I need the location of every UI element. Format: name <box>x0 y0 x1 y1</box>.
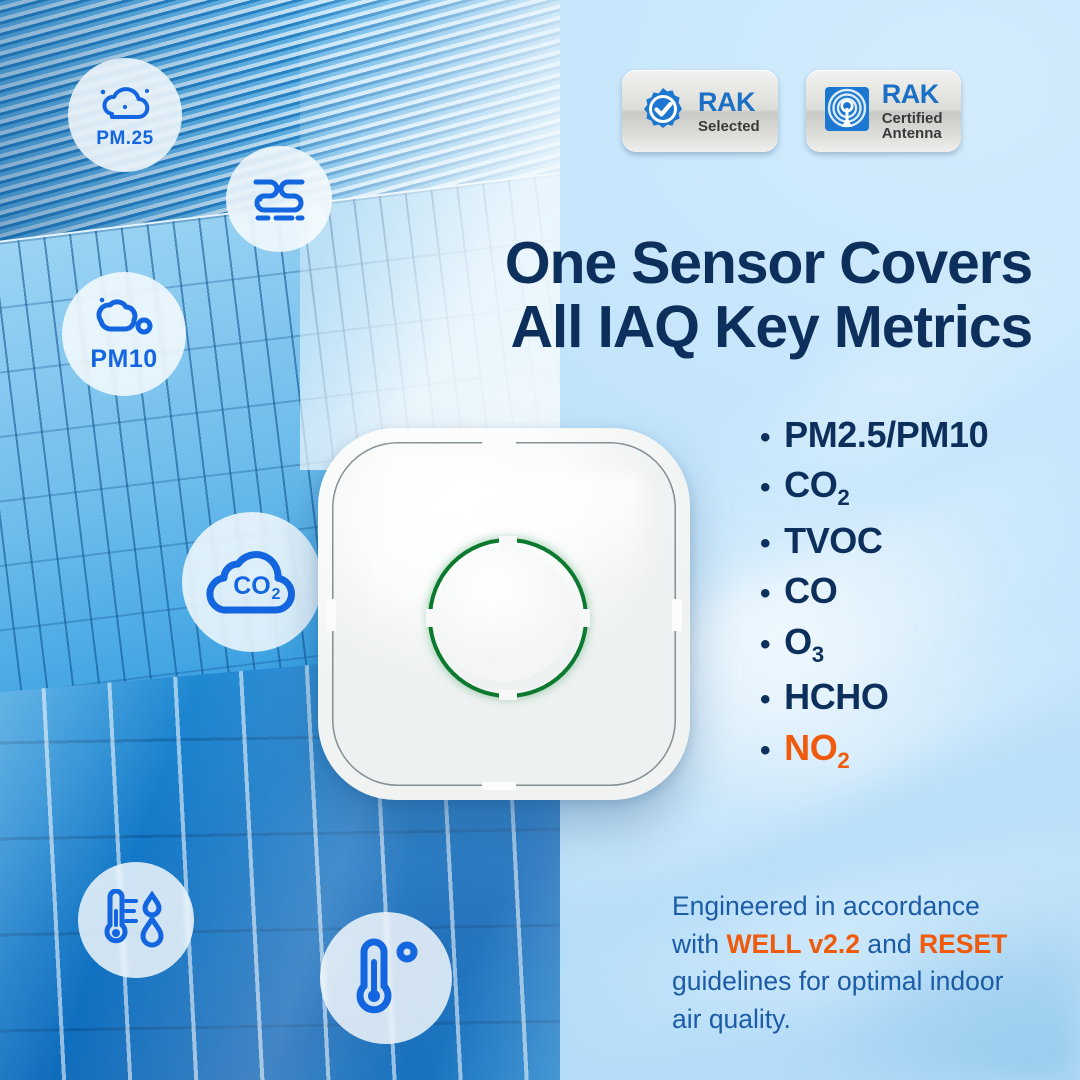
list-item: • HCHO <box>760 676 1060 718</box>
rak-certified-antenna-badge: RAK Certified Antenna <box>806 70 961 152</box>
metric-label: CO <box>784 570 837 612</box>
rak-brand-label: RAK <box>882 81 943 108</box>
sensor-ring-center <box>436 546 572 682</box>
cloud-particles-icon <box>94 83 156 125</box>
list-item: • NO2 <box>760 727 1060 775</box>
sensor-seam-gap <box>482 438 516 446</box>
rak-brand-label: RAK <box>698 89 760 116</box>
list-item: • CO <box>760 570 1060 612</box>
airflow-swirl-icon <box>246 168 312 230</box>
svg-text:CO: CO <box>233 572 271 600</box>
bullet-dot: • <box>760 630 770 660</box>
rak-selected-label: Selected <box>698 119 760 134</box>
humidity-badge <box>78 862 194 978</box>
thermometer-humidity-icon <box>100 889 172 951</box>
bullet-dot: • <box>760 685 770 715</box>
bullet-dot: • <box>760 529 770 559</box>
page-title: One Sensor Covers All IAQ Key Metrics <box>432 232 1032 359</box>
metric-label: PM2.5/PM10 <box>784 414 988 456</box>
caption-part-3: guidelines for optimal indoor air qualit… <box>672 966 1003 1034</box>
led-ring-notch <box>426 609 436 627</box>
metric-label: NO2 <box>784 727 849 775</box>
iaq-sensor-device <box>318 428 690 800</box>
co2-badge: CO 2 <box>182 512 322 652</box>
list-item: • PM2.5/PM10 <box>760 414 1060 456</box>
pm10-badge: PM10 <box>62 272 186 396</box>
headline-line-2: All IAQ Key Metrics <box>432 296 1032 360</box>
caption-highlight-well: WELL v2.2 <box>727 929 861 959</box>
metric-label: HCHO <box>784 676 888 718</box>
pm10-badge-caption: PM10 <box>90 347 157 372</box>
sensor-seam-gap <box>326 599 336 631</box>
rak-certified-antenna-icon <box>824 86 870 137</box>
metric-label: O3 <box>784 621 824 669</box>
caption-part-2: and <box>860 929 919 959</box>
pm25-badge: PM.25 <box>68 58 182 172</box>
bullet-dot: • <box>760 579 770 609</box>
compliance-caption: Engineered in accordance with WELL v2.2 … <box>672 888 1032 1039</box>
led-ring-notch <box>580 609 590 627</box>
certification-badges: RAK Selected RAK Certified Antenna <box>622 70 961 152</box>
led-ring-notch <box>499 690 517 700</box>
metric-label: TVOC <box>784 520 882 562</box>
airflow-badge <box>226 146 332 252</box>
bullet-dot: • <box>760 473 770 503</box>
sensor-seam-gap <box>482 782 516 790</box>
metrics-list: • PM2.5/PM10 • CO2 • TVOC • CO • O3 • HC… <box>760 414 1060 782</box>
rak-selected-badge: RAK Selected <box>622 70 778 152</box>
metric-label: CO2 <box>784 464 849 512</box>
svg-text:2: 2 <box>272 586 281 603</box>
cloud-co2-icon: CO 2 <box>198 540 306 624</box>
rak-selected-check-icon <box>640 86 686 137</box>
poster-canvas: PM.25 PM10 CO <box>0 0 1080 1080</box>
list-item: • TVOC <box>760 520 1060 562</box>
bullet-dot: • <box>760 736 770 766</box>
list-item: • O3 <box>760 621 1060 669</box>
list-item: • CO2 <box>760 464 1060 512</box>
bullet-dot: • <box>760 423 770 453</box>
cloud-particle-dot-icon <box>88 296 160 342</box>
sensor-seam-gap <box>672 599 682 631</box>
pm25-badge-caption: PM.25 <box>96 129 153 148</box>
headline-line-1: One Sensor Covers <box>505 230 1032 296</box>
rak-antenna-label: Antenna <box>882 126 943 141</box>
thermometer-degree-icon <box>348 938 424 1018</box>
caption-highlight-reset: RESET <box>919 929 1007 959</box>
rak-certified-label: Certified <box>882 111 943 126</box>
temperature-badge <box>320 912 452 1044</box>
led-ring-notch <box>499 536 517 546</box>
